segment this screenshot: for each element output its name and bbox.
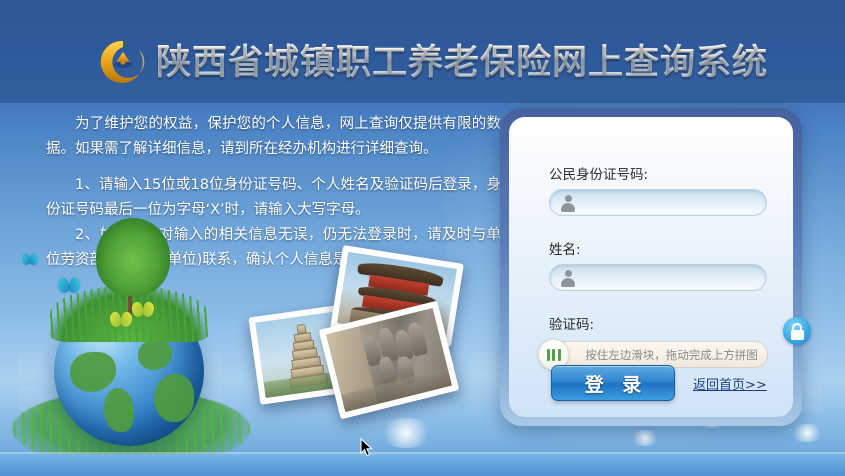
login-actions: 登 录 返回首页>> bbox=[551, 365, 767, 401]
globe-grass bbox=[50, 286, 208, 342]
sparkle bbox=[378, 418, 434, 448]
globe-sphere bbox=[54, 296, 204, 446]
user-icon bbox=[560, 195, 576, 212]
return-home-link[interactable]: 返回首页>> bbox=[693, 374, 767, 393]
notice-text: 为了维护您的权益，保护您的个人信息，网上查询仅提供有限的数据。如果需了解详细信息… bbox=[46, 112, 501, 273]
name-input[interactable] bbox=[580, 265, 760, 290]
swirl-emblem-icon bbox=[99, 38, 147, 86]
login-panel: 公民身份证号码: 姓名: 验证码: bbox=[500, 108, 802, 426]
terracotta-warriors-photo bbox=[319, 301, 460, 420]
butterfly-blue-icon bbox=[58, 278, 80, 294]
lock-icon bbox=[783, 317, 811, 345]
login-page: 陕西省城镇职工养老保险网上查询系统 为了维护您的权益，保护您的个人信息，网上查询… bbox=[0, 0, 845, 476]
id-input[interactable] bbox=[580, 190, 760, 215]
name-field-label: 姓名: bbox=[549, 238, 767, 258]
notice-paragraph-3: 2、如果您核对输入的相关信息无误，仍无法登录时，请及时与单位劳资部门(或托管单位… bbox=[46, 223, 501, 273]
butterfly-blue-icon bbox=[22, 254, 38, 266]
notice-paragraph-2: 1、请输入15位或18位身份证号码、个人姓名及验证码后登录，身份证号码最后一位为… bbox=[46, 173, 501, 223]
butterfly-yellow-icon bbox=[132, 302, 154, 318]
captcha-label: 验证码: bbox=[549, 313, 767, 333]
id-field-group: 公民身份证号码: bbox=[549, 163, 767, 216]
notice-paragraph-1: 为了维护您的权益，保护您的个人信息，网上查询仅提供有限的数据。如果需了解详细信息… bbox=[46, 112, 501, 162]
sparkle bbox=[630, 430, 660, 446]
user-icon bbox=[560, 270, 576, 287]
pagoda-shape bbox=[282, 322, 328, 389]
name-input-wrapper[interactable] bbox=[549, 264, 767, 291]
butterfly-yellow-icon bbox=[110, 312, 132, 328]
name-field-group: 姓名: bbox=[549, 238, 767, 291]
slider-hint-text: 按住左边滑块，拖动完成上方拼图 bbox=[559, 347, 758, 363]
id-field-label: 公民身份证号码: bbox=[549, 163, 767, 183]
page-header: 陕西省城镇职工养老保险网上查询系统 bbox=[0, 0, 845, 103]
captcha-field-group: 验证码: 按住左边滑块，拖动完成上方拼图 bbox=[549, 313, 767, 370]
page-title: 陕西省城镇职工养老保险网上查询系统 bbox=[156, 34, 768, 85]
login-button[interactable]: 登 录 bbox=[551, 365, 675, 401]
slider-track[interactable]: 按住左边滑块，拖动完成上方拼图 bbox=[549, 341, 768, 368]
id-input-wrapper[interactable] bbox=[549, 189, 767, 216]
sparkle bbox=[790, 424, 824, 442]
big-wild-goose-pagoda-photo bbox=[248, 303, 363, 405]
bottom-band bbox=[0, 454, 845, 476]
green-globe-illustration bbox=[12, 250, 252, 465]
photo-collage bbox=[240, 252, 500, 432]
